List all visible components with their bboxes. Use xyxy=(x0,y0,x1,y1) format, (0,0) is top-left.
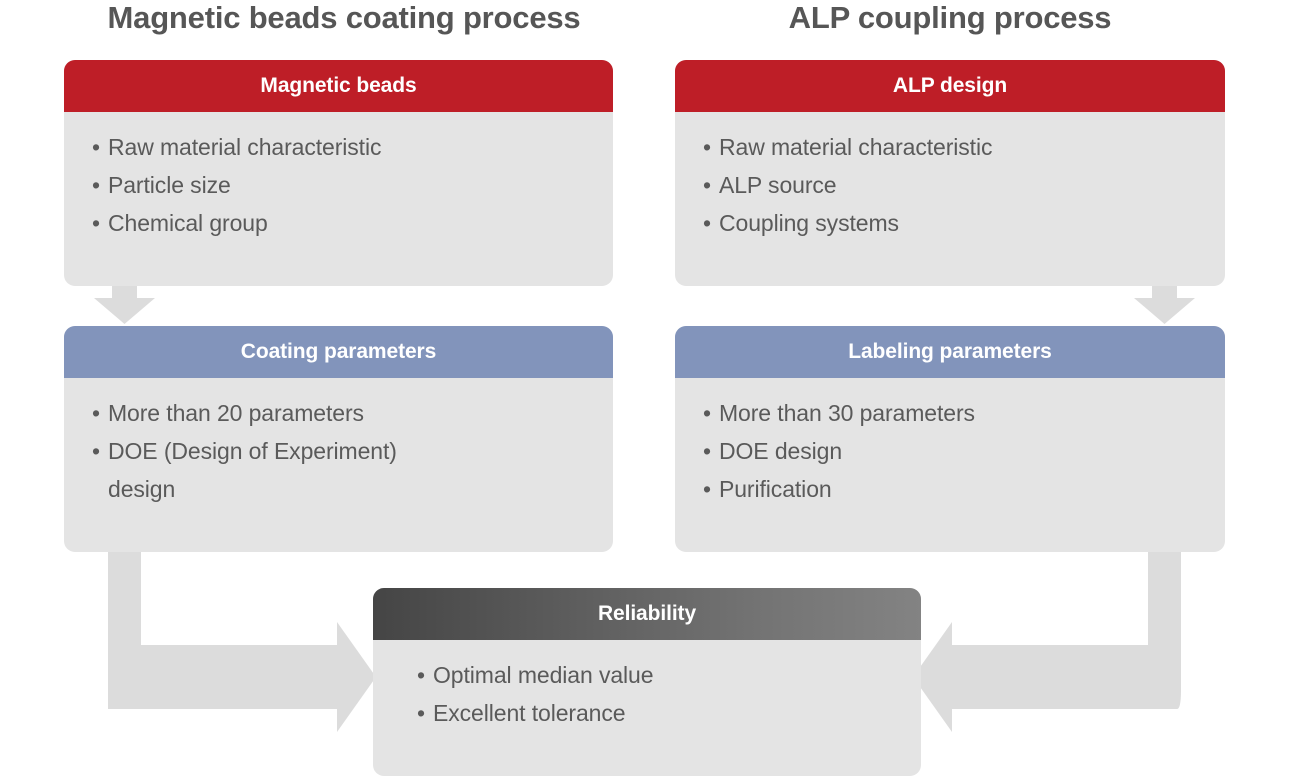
list-item: Raw material characteristic xyxy=(64,128,613,166)
card-header-labeling-parameters: Labeling parameters xyxy=(675,326,1225,378)
list-item: Excellent tolerance xyxy=(389,694,921,732)
card-body-labeling-parameters: More than 30 parameters DOE design Purif… xyxy=(675,378,1225,552)
bullet-list-reliability: Optimal median value Excellent tolerance xyxy=(373,656,921,732)
card-body-reliability: Optimal median value Excellent tolerance xyxy=(373,640,921,776)
card-magnetic-beads: Magnetic beads Raw material characterist… xyxy=(64,60,613,286)
card-header-coating-parameters: Coating parameters xyxy=(64,326,613,378)
list-item: More than 30 parameters xyxy=(675,394,1225,432)
list-item: Particle size xyxy=(64,166,613,204)
list-item: Raw material characteristic xyxy=(675,128,1225,166)
arrow-elbow-left-to-reliability xyxy=(108,534,376,732)
diagram-canvas: Magnetic beads coating process ALP coupl… xyxy=(0,0,1290,764)
list-item: Optimal median value xyxy=(389,656,921,694)
bullet-list-labeling-parameters: More than 30 parameters DOE design Purif… xyxy=(675,394,1225,508)
bullet-list-magnetic-beads: Raw material characteristic Particle siz… xyxy=(64,128,613,242)
list-item: DOE (Design of Experiment) design xyxy=(64,432,438,508)
card-coating-parameters: Coating parameters More than 20 paramete… xyxy=(64,326,613,552)
bullet-list-coating-parameters: More than 20 parameters DOE (Design of E… xyxy=(64,394,613,508)
list-item: More than 20 parameters xyxy=(64,394,613,432)
list-item: ALP source xyxy=(675,166,1225,204)
card-alp-design: ALP design Raw material characteristic A… xyxy=(675,60,1225,286)
bullet-list-alp-design: Raw material characteristic ALP source C… xyxy=(675,128,1225,242)
card-header-reliability: Reliability xyxy=(373,588,921,640)
card-body-alp-design: Raw material characteristic ALP source C… xyxy=(675,112,1225,286)
card-header-magnetic-beads: Magnetic beads xyxy=(64,60,613,112)
list-item: Coupling systems xyxy=(675,204,1225,242)
card-body-magnetic-beads: Raw material characteristic Particle siz… xyxy=(64,112,613,286)
card-reliability: Reliability Optimal median value Excelle… xyxy=(373,588,921,776)
card-header-alp-design: ALP design xyxy=(675,60,1225,112)
column-title-right: ALP coupling process xyxy=(640,0,1260,36)
column-title-left: Magnetic beads coating process xyxy=(14,0,674,36)
list-item: DOE design xyxy=(675,432,1225,470)
list-item: Purification xyxy=(675,470,1225,508)
arrow-elbow-right-to-reliability xyxy=(913,534,1181,732)
card-labeling-parameters: Labeling parameters More than 30 paramet… xyxy=(675,326,1225,552)
card-body-coating-parameters: More than 20 parameters DOE (Design of E… xyxy=(64,378,613,552)
list-item: Chemical group xyxy=(64,204,613,242)
